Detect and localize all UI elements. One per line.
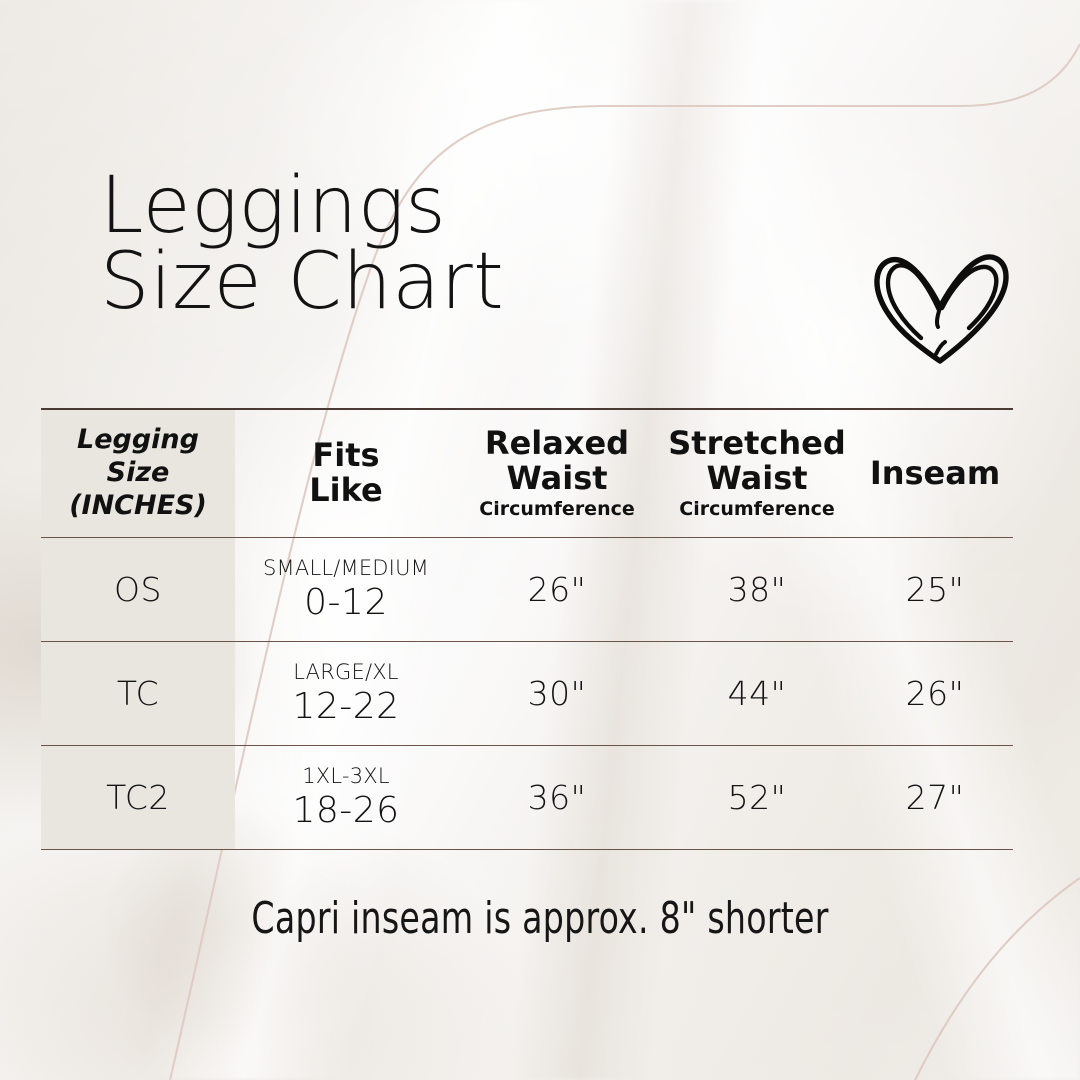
cell-fits-like-range: 12-22 xyxy=(235,686,457,727)
column-header-inseam: Inseam xyxy=(857,409,1013,537)
column-header-stretched-waist: Stretched Waist Circumference xyxy=(657,409,857,537)
cell-stretched-waist: 38" xyxy=(657,537,857,641)
column-header-fits-like-line-1: Fits xyxy=(312,436,379,474)
footer-note: Capri inseam is approx. 8" shorter xyxy=(86,893,993,944)
column-header-legging-size-line-2: (INCHES) xyxy=(69,490,207,521)
page-title: Leggings Size Chart xyxy=(100,168,800,321)
column-header-relaxed-waist-line-1: Relaxed xyxy=(485,424,629,462)
column-header-stretched-waist-line-1: Stretched xyxy=(668,424,845,462)
table-row: TC LARGE/XL 12-22 30" 44" 26" xyxy=(41,641,1013,745)
cell-fits-like-label: 1XL-3XL xyxy=(235,764,457,788)
column-header-legging-size-line-1: Legging Size xyxy=(77,424,199,488)
heart-doodle-icon xyxy=(866,228,1016,364)
column-header-fits-like-line-2: Like xyxy=(309,471,382,509)
column-header-relaxed-waist-sub: Circumference xyxy=(457,498,657,521)
column-header-relaxed-waist: Relaxed Waist Circumference xyxy=(457,409,657,537)
cell-stretched-waist: 44" xyxy=(657,641,857,745)
column-header-relaxed-waist-line-2: Waist xyxy=(506,459,607,497)
cell-relaxed-waist: 26" xyxy=(457,537,657,641)
table-row: TC2 1XL-3XL 18-26 36" 52" 27" xyxy=(41,745,1013,849)
cell-legging-size: TC xyxy=(41,641,235,745)
size-chart-poster: Leggings Size Chart Legging Size (INCHES… xyxy=(0,0,1080,1080)
size-chart-table: Legging Size (INCHES) Fits Like Relaxed … xyxy=(41,408,1013,850)
cell-fits-like-label: SMALL/MEDIUM xyxy=(235,556,457,580)
cell-inseam: 27" xyxy=(857,745,1013,849)
cell-legging-size: TC2 xyxy=(41,745,235,849)
column-header-legging-size: Legging Size (INCHES) xyxy=(41,409,235,537)
page-title-line-2: Size Chart xyxy=(100,244,800,320)
cell-fits-like: SMALL/MEDIUM 0-12 xyxy=(235,537,457,641)
page-title-line-1: Leggings xyxy=(100,168,800,244)
table-header-row: Legging Size (INCHES) Fits Like Relaxed … xyxy=(41,409,1013,537)
column-header-stretched-waist-line-2: Waist xyxy=(706,459,807,497)
cell-inseam: 25" xyxy=(857,537,1013,641)
cell-fits-like-range: 0-12 xyxy=(235,582,457,623)
cell-relaxed-waist: 30" xyxy=(457,641,657,745)
column-header-fits-like: Fits Like xyxy=(235,409,457,537)
column-header-stretched-waist-sub: Circumference xyxy=(657,498,857,521)
cell-fits-like-label: LARGE/XL xyxy=(235,660,457,684)
cell-inseam: 26" xyxy=(857,641,1013,745)
cell-relaxed-waist: 36" xyxy=(457,745,657,849)
cell-stretched-waist: 52" xyxy=(657,745,857,849)
cell-legging-size: OS xyxy=(41,537,235,641)
column-header-inseam-line-1: Inseam xyxy=(870,454,1000,492)
cell-fits-like: LARGE/XL 12-22 xyxy=(235,641,457,745)
table-row: OS SMALL/MEDIUM 0-12 26" 38" 25" xyxy=(41,537,1013,641)
cell-fits-like-range: 18-26 xyxy=(235,790,457,831)
cell-fits-like: 1XL-3XL 18-26 xyxy=(235,745,457,849)
